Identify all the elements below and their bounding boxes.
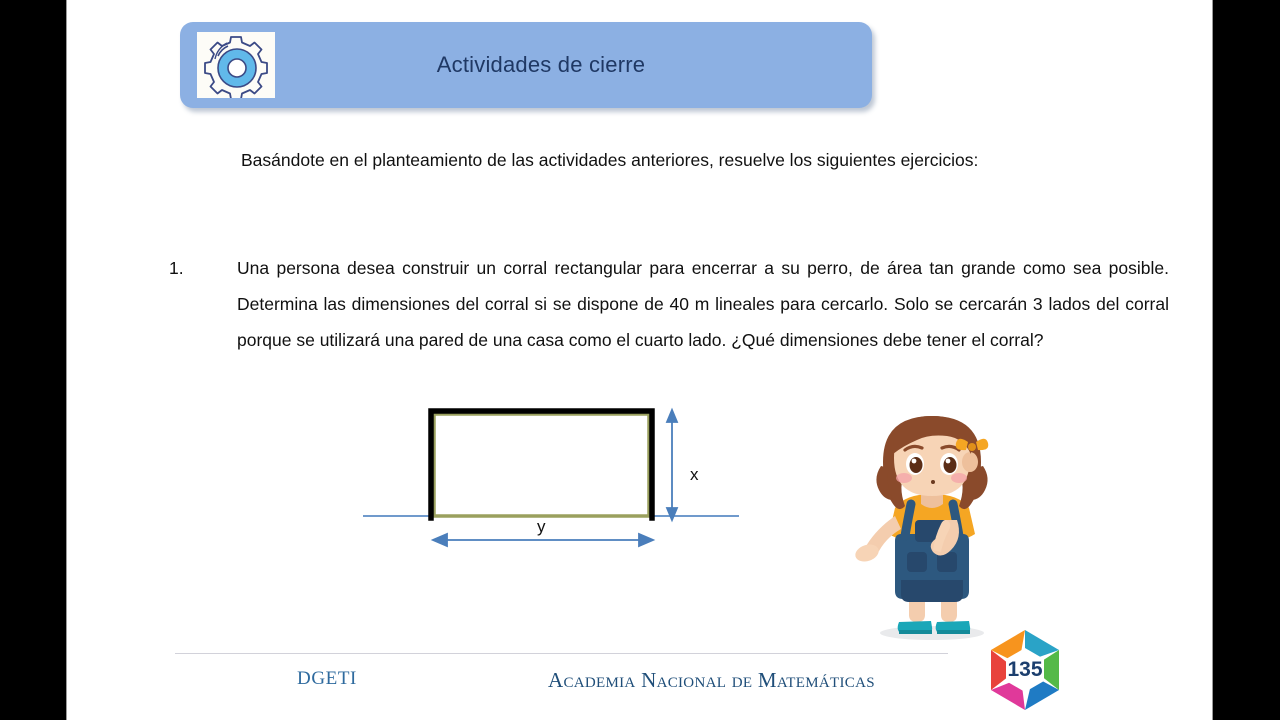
exercise-number: 1. — [169, 250, 237, 286]
section-title: Actividades de cierre — [180, 22, 872, 108]
page-number: 135 — [975, 628, 1075, 712]
corral-rectangle-diagram: x y — [357, 400, 777, 560]
exercise-item: 1. Una persona desea construir un corral… — [169, 250, 1169, 358]
intro-paragraph: Basándote en el planteamiento de las act… — [169, 142, 1129, 178]
section-header-banner: Actividades de cierre — [180, 22, 872, 108]
thinking-girl-illustration — [837, 400, 1027, 645]
width-label: y — [537, 517, 546, 536]
footer-divider — [175, 653, 948, 654]
footer-academy-label: Academia Nacional de Matemáticas — [548, 668, 875, 693]
exercise-text: Una persona desea construir un corral re… — [237, 250, 1169, 358]
height-arrow — [667, 410, 677, 520]
exercise-list: 1. Una persona desea construir un corral… — [169, 250, 1169, 358]
footer-institution-label: DGETI — [297, 668, 357, 690]
slide-page: Actividades de cierre Basándote en el pl… — [66, 0, 1213, 720]
height-label: x — [690, 465, 699, 484]
page-number-badge: 135 — [975, 628, 1075, 712]
slide-stage: Actividades de cierre Basándote en el pl… — [0, 0, 1280, 720]
